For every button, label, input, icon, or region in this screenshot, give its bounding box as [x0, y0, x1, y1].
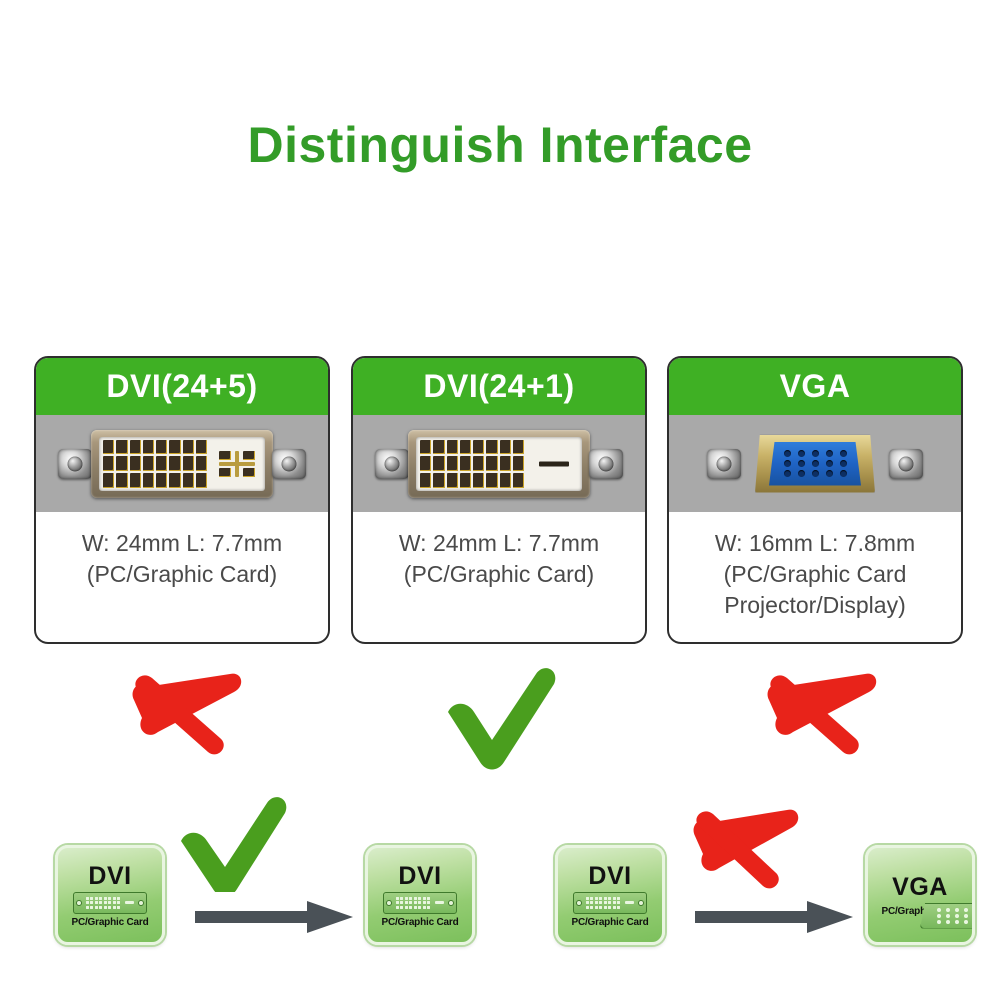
card-header-dvi-24-1: DVI(24+1): [353, 358, 645, 415]
card-usage-line: (PC/Graphic Card): [36, 559, 328, 590]
card-usage-line-2: Projector/Display): [669, 590, 961, 621]
mini-dvi-connector-icon: [573, 892, 647, 914]
flow-target-badge-vga[interactable]: VGA PC/Graphic Card: [865, 845, 975, 945]
connector-photo-dvi-24-5: [36, 415, 328, 512]
thumbscrew-left-icon: [375, 449, 409, 479]
thumbscrew-right-icon: [889, 449, 923, 479]
card-spec-line: W: 16mm L: 7.8mm: [669, 528, 961, 559]
red-cross-icon: [747, 660, 887, 770]
dvi-24-5-connector-icon: [91, 430, 273, 498]
badge-title: DVI: [398, 863, 441, 889]
card-header-dvi-24-5: DVI(24+5): [36, 358, 328, 415]
verdict-marks-row: [0, 660, 1000, 770]
card-body-dvi-24-5: W: 24mm L: 7.7mm (PC/Graphic Card): [36, 512, 328, 590]
dvi-pin-grid: [103, 440, 207, 488]
page-title: Distinguish Interface: [0, 116, 1000, 174]
connector-card-vga[interactable]: VGA W: 16mm L: 7.8mm (PC/Graphic Card Pr…: [667, 356, 963, 644]
flow-source-badge-dvi[interactable]: DVI PC/Graphic Card: [55, 845, 165, 945]
flow-dvi-to-dvi: DVI PC/Graphic Card: [55, 805, 475, 985]
flow-verdict-check-icon: [173, 797, 293, 892]
compatibility-flows: DVI PC/Graphic Card: [0, 805, 1000, 985]
infographic-root: Distinguish Interface DVI(24+5): [0, 0, 1000, 1000]
flow-source-badge-dvi[interactable]: DVI PC/Graphic Card: [555, 845, 665, 945]
card-body-vga: W: 16mm L: 7.8mm (PC/Graphic Card Projec…: [669, 512, 961, 621]
dvi-single-blade-area: [530, 440, 578, 488]
green-check-icon: [430, 660, 570, 770]
badge-title: DVI: [88, 863, 131, 889]
vga-pin-face: [769, 442, 861, 486]
dvi-24-1-connector-icon: [408, 430, 590, 498]
card-usage-line: (PC/Graphic Card: [669, 559, 961, 590]
flow-dvi-to-vga: DVI PC/Graphic Card: [555, 805, 975, 985]
connector-card-dvi-24-1[interactable]: DVI(24+1): [351, 356, 647, 644]
mini-dvi-connector-icon: [383, 892, 457, 914]
card-header-vga: VGA: [669, 358, 961, 415]
thumbscrew-right-icon: [589, 449, 623, 479]
flow-arrow-icon: [695, 900, 853, 934]
thumbscrew-left-icon: [707, 449, 741, 479]
verdict-mark-dvi-24-1: [430, 660, 570, 770]
badge-title: VGA: [892, 874, 948, 900]
mini-dvi-connector-icon: [73, 892, 147, 914]
badge-title: DVI: [588, 863, 631, 889]
connector-card-dvi-24-5[interactable]: DVI(24+5): [34, 356, 330, 644]
flow-target-badge-dvi[interactable]: DVI PC/Graphic Card: [365, 845, 475, 945]
verdict-mark-dvi-24-5: [112, 660, 252, 770]
red-cross-icon: [112, 660, 252, 770]
connector-cards-row: DVI(24+5): [0, 356, 1000, 648]
badge-subtitle: PC/Graphic Card: [571, 917, 648, 928]
card-spec-line: W: 24mm L: 7.7mm: [36, 528, 328, 559]
connector-photo-vga: [669, 415, 961, 512]
dvi-analog-blade-area: [213, 440, 261, 488]
verdict-mark-vga: [747, 660, 887, 770]
dvi-pin-grid: [420, 440, 524, 488]
card-body-dvi-24-1: W: 24mm L: 7.7mm (PC/Graphic Card): [353, 512, 645, 590]
flow-verdict-cross-icon: [675, 800, 805, 900]
badge-subtitle: PC/Graphic Card: [71, 917, 148, 928]
badge-subtitle: PC/Graphic Card: [381, 917, 458, 928]
flow-arrow-icon: [195, 900, 353, 934]
thumbscrew-left-icon: [58, 449, 92, 479]
card-spec-line: W: 24mm L: 7.7mm: [353, 528, 645, 559]
card-usage-line: (PC/Graphic Card): [353, 559, 645, 590]
vga-connector-icon: [755, 429, 875, 499]
thumbscrew-right-icon: [272, 449, 306, 479]
connector-photo-dvi-24-1: [353, 415, 645, 512]
